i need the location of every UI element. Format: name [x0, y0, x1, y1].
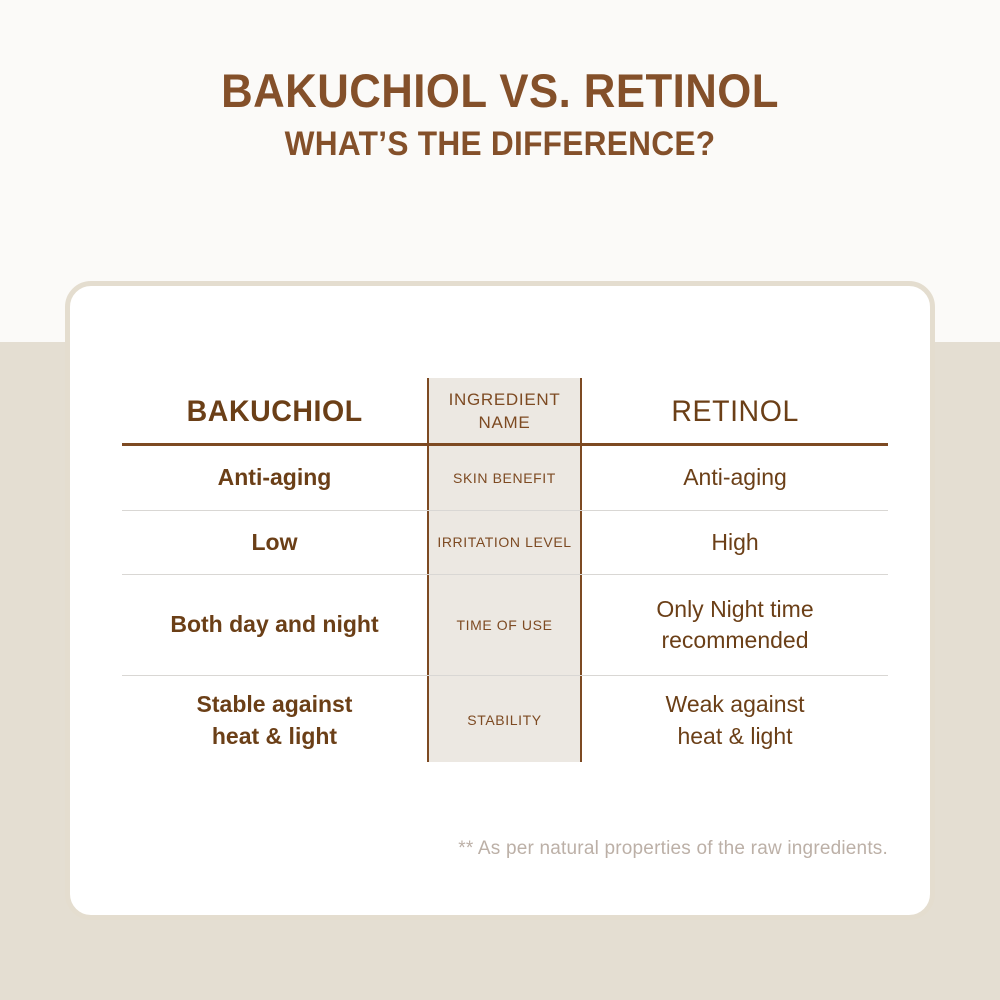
row-2-attribute-text: IRRITATION LEVEL — [437, 533, 571, 552]
row-4-value-right: Weak againstheat & light — [582, 676, 888, 765]
row-2-left-text: Low — [252, 527, 298, 558]
row-4-attribute: STABILITY — [427, 676, 582, 765]
row-4-right-line2: heat & light — [677, 723, 792, 749]
row-3-right-line1: Only Night time — [656, 596, 813, 622]
row-1-attribute-text: SKIN BENEFIT — [453, 469, 556, 488]
header-cell-bakuchiol: BAKUCHIOL — [122, 378, 427, 446]
row-1-value-right: Anti-aging — [582, 446, 888, 510]
page-subtitle: WHAT’S THE DIFFERENCE? — [35, 126, 965, 163]
row-1-value-left: Anti-aging — [122, 446, 427, 510]
heading-block: BAKUCHIOL VS. RETINOL WHAT’S THE DIFFERE… — [0, 66, 1000, 163]
row-4-left-line2: heat & light — [212, 723, 337, 749]
row-4-attribute-text: STABILITY — [467, 711, 541, 730]
row-4-right-text: Weak againstheat & light — [666, 689, 805, 751]
footnote: ** As per natural properties of the raw … — [122, 838, 888, 860]
header-cell-retinol: RETINOL — [582, 378, 888, 446]
row-4-value-left: Stable againstheat & light — [122, 676, 427, 765]
row-1-right-text: Anti-aging — [683, 462, 787, 493]
row-3-value-right: Only Night timerecommended — [582, 575, 888, 675]
table-row: Both day and night TIME OF USE Only Nigh… — [122, 574, 888, 675]
header-cell-attribute: INGREDIENTNAME — [427, 378, 582, 446]
table-row: Anti-aging SKIN BENEFIT Anti-aging — [122, 446, 888, 510]
header-label-middle: INGREDIENTNAME — [449, 389, 561, 435]
table-header-row: BAKUCHIOL INGREDIENTNAME RETINOL — [122, 378, 888, 446]
row-1-attribute: SKIN BENEFIT — [427, 446, 582, 510]
comparison-card: BAKUCHIOL INGREDIENTNAME RETINOL Anti-ag… — [65, 281, 935, 920]
header-label-middle-line2: NAME — [479, 413, 531, 432]
header-label-right: RETINOL — [671, 395, 799, 429]
row-4-right-line1: Weak against — [666, 691, 805, 717]
row-3-value-left: Both day and night — [122, 575, 427, 675]
row-3-right-text: Only Night timerecommended — [656, 594, 813, 656]
row-2-value-right: High — [582, 511, 888, 574]
comparison-table: BAKUCHIOL INGREDIENTNAME RETINOL Anti-ag… — [122, 378, 888, 765]
row-3-attribute: TIME OF USE — [427, 575, 582, 675]
row-4-left-line1: Stable against — [197, 691, 353, 717]
table-row: Low IRRITATION LEVEL High — [122, 510, 888, 574]
row-3-attribute-text: TIME OF USE — [456, 616, 552, 635]
row-1-left-text: Anti-aging — [218, 462, 332, 493]
table-row: Stable againstheat & light STABILITY Wea… — [122, 675, 888, 765]
header-label-left: BAKUCHIOL — [186, 395, 362, 429]
page-title: BAKUCHIOL VS. RETINOL — [35, 66, 965, 117]
row-3-left-text: Both day and night — [170, 609, 378, 640]
row-4-left-text: Stable againstheat & light — [197, 689, 353, 751]
header-label-middle-line1: INGREDIENT — [449, 390, 561, 409]
row-2-value-left: Low — [122, 511, 427, 574]
row-3-right-line2: recommended — [661, 627, 808, 653]
row-2-attribute: IRRITATION LEVEL — [427, 511, 582, 574]
row-2-right-text: High — [711, 527, 758, 558]
